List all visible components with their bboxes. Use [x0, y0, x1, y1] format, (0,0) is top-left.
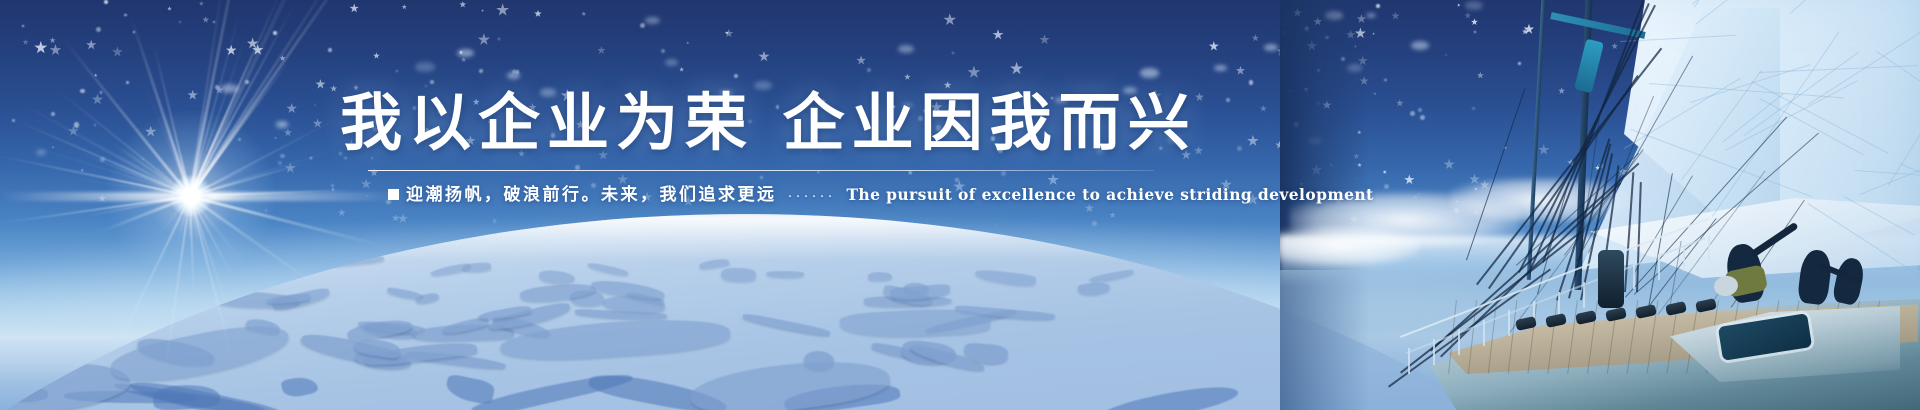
star-dot	[331, 184, 334, 187]
star-glow	[415, 62, 434, 72]
star-dot	[734, 74, 737, 77]
star-dot	[278, 161, 282, 165]
star-icon	[331, 187, 335, 191]
star-icon	[758, 51, 770, 63]
star-icon	[92, 94, 104, 106]
stanchion	[1508, 310, 1510, 336]
star-icon	[22, 39, 28, 45]
stanchion	[1708, 235, 1710, 261]
star-icon	[1252, 34, 1260, 42]
star-dot	[314, 104, 316, 106]
sailing-yacht	[1280, 0, 1920, 410]
star-icon	[943, 13, 956, 26]
continent-shape	[539, 269, 575, 283]
star-dot	[179, 21, 181, 23]
star-icon	[1247, 135, 1259, 147]
star-glow	[220, 84, 239, 94]
star-icon	[1236, 66, 1246, 76]
star-icon	[199, 1, 204, 6]
star-icon	[478, 33, 491, 46]
star-icon	[187, 90, 198, 101]
star-dot	[100, 91, 102, 93]
star-icon	[904, 73, 911, 80]
stanchion	[1433, 339, 1435, 365]
star-dot	[1226, 98, 1230, 102]
star-icon	[202, 16, 209, 23]
spreader	[1550, 12, 1645, 39]
star-icon	[34, 41, 48, 55]
star-dot	[126, 81, 129, 84]
star-dot	[213, 21, 215, 23]
star-icon	[349, 3, 359, 13]
ellipsis-dots: ······	[784, 187, 840, 204]
stanchion	[1658, 254, 1660, 280]
star-icon	[167, 6, 172, 11]
corporate-banner: 我以企业为荣 企业因我而兴 迎潮扬帆，破浪前行。未来，我们追求更远 ······…	[0, 0, 1920, 410]
star-dot	[133, 31, 135, 33]
continent-shape	[721, 268, 757, 282]
star-dot	[1249, 80, 1253, 84]
star-icon	[597, 46, 606, 55]
sail-luff-tape	[1574, 39, 1604, 94]
subtitle-row: 迎潮扬帆，破浪前行。未来，我们追求更远 ······ The pursuit o…	[388, 180, 1180, 205]
mast-base-block	[1598, 250, 1624, 308]
star-icon	[686, 41, 689, 44]
star-dot	[640, 23, 645, 28]
star-icon	[308, 155, 313, 160]
continent-shape	[586, 262, 629, 276]
star-glow	[645, 17, 659, 24]
star-dot	[104, 0, 108, 4]
star-glow	[457, 49, 474, 57]
star-glow	[507, 72, 520, 78]
continent-shape	[1077, 281, 1110, 296]
star-icon	[51, 146, 54, 149]
star-glow	[665, 59, 679, 66]
star-icon	[1260, 105, 1267, 112]
star-glow	[1140, 68, 1159, 77]
star-dot	[396, 70, 398, 72]
banner-text-block: 我以企业为荣 企业因我而兴 迎潮扬帆，破浪前行。未来，我们追求更远 ······…	[340, 92, 1180, 205]
star-dot	[1237, 146, 1242, 151]
star-icon	[481, 9, 484, 12]
star-dot	[94, 124, 96, 126]
continent-shape	[1089, 269, 1134, 283]
star-icon	[856, 55, 866, 65]
continent-shape	[839, 306, 990, 340]
star-icon	[112, 46, 123, 57]
star-dot	[238, 138, 241, 141]
continent-shape	[1096, 377, 1240, 410]
star-dot	[265, 209, 268, 212]
star-dot	[479, 69, 483, 73]
star-icon	[967, 66, 980, 79]
star-glow	[36, 150, 46, 155]
star-dot	[328, 48, 332, 52]
star-icon	[581, 11, 586, 16]
star-dot	[867, 68, 871, 72]
star-glow	[898, 45, 914, 53]
star-icon	[49, 44, 61, 56]
star-dot	[245, 80, 249, 84]
star-dot	[142, 158, 144, 160]
star-icon	[330, 85, 337, 92]
star-glow	[1264, 44, 1278, 51]
star-icon	[49, 37, 56, 44]
star-icon	[401, 4, 407, 10]
star-icon	[992, 29, 1003, 40]
star-icon	[279, 55, 285, 61]
star-dot	[124, 14, 126, 16]
star-icon	[496, 3, 510, 17]
star-icon	[284, 128, 292, 136]
star-icon	[459, 1, 466, 8]
continent-shape	[461, 262, 490, 271]
star-dot	[215, 85, 219, 89]
subtitle-chinese: 迎潮扬帆，破浪前行。未来，我们追求更远	[406, 180, 777, 205]
star-dot	[12, 119, 15, 122]
star-dot	[661, 49, 665, 53]
stanchion	[1408, 348, 1410, 374]
divider	[368, 170, 1154, 171]
star-icon	[94, 73, 98, 77]
star-icon	[145, 126, 157, 138]
continent-shape	[742, 312, 831, 337]
star-dot	[51, 112, 55, 116]
star-icon	[226, 45, 237, 56]
stanchion	[1458, 329, 1460, 355]
star-icon	[313, 118, 323, 128]
star-dot	[74, 122, 79, 127]
star-dot	[80, 89, 84, 93]
star-glow	[1214, 65, 1226, 71]
star-dot	[22, 25, 24, 27]
star-dot	[430, 80, 434, 84]
continent-shape	[281, 373, 319, 399]
star-icon	[373, 52, 380, 59]
star-dot	[273, 31, 276, 34]
star-icon	[534, 10, 542, 18]
square-bullet-icon	[388, 189, 399, 200]
star-dot	[498, 38, 500, 40]
continent-shape	[347, 317, 413, 342]
stanchion	[1583, 282, 1585, 308]
subtitle-english: The pursuit of excellence to achieve str…	[846, 185, 1373, 204]
star-icon	[274, 136, 278, 140]
star-icon	[98, 194, 106, 202]
stanchion	[1633, 263, 1635, 289]
continent-shape	[444, 373, 495, 405]
continent-shape	[975, 269, 1037, 287]
star-icon	[461, 57, 467, 63]
star-icon	[1209, 41, 1220, 52]
star-icon	[724, 29, 733, 38]
star-icon	[86, 40, 97, 51]
stanchion	[1483, 320, 1485, 346]
star-dot	[952, 52, 954, 54]
star-icon	[80, 168, 84, 172]
star-icon	[286, 103, 297, 114]
star-glow	[276, 121, 288, 127]
continent-shape	[868, 272, 892, 280]
star-icon	[679, 67, 684, 72]
page-title: 我以企业为荣 企业因我而兴	[340, 92, 1180, 154]
star-icon	[315, 79, 326, 90]
continent-shape	[766, 270, 805, 277]
cloud	[1280, 226, 1420, 266]
star-icon	[1010, 62, 1024, 76]
star-icon	[284, 162, 296, 174]
star-dot	[100, 157, 105, 162]
stanchion	[1683, 245, 1685, 271]
star-icon	[1039, 34, 1050, 45]
star-dot	[280, 154, 284, 158]
star-dot	[96, 27, 101, 32]
